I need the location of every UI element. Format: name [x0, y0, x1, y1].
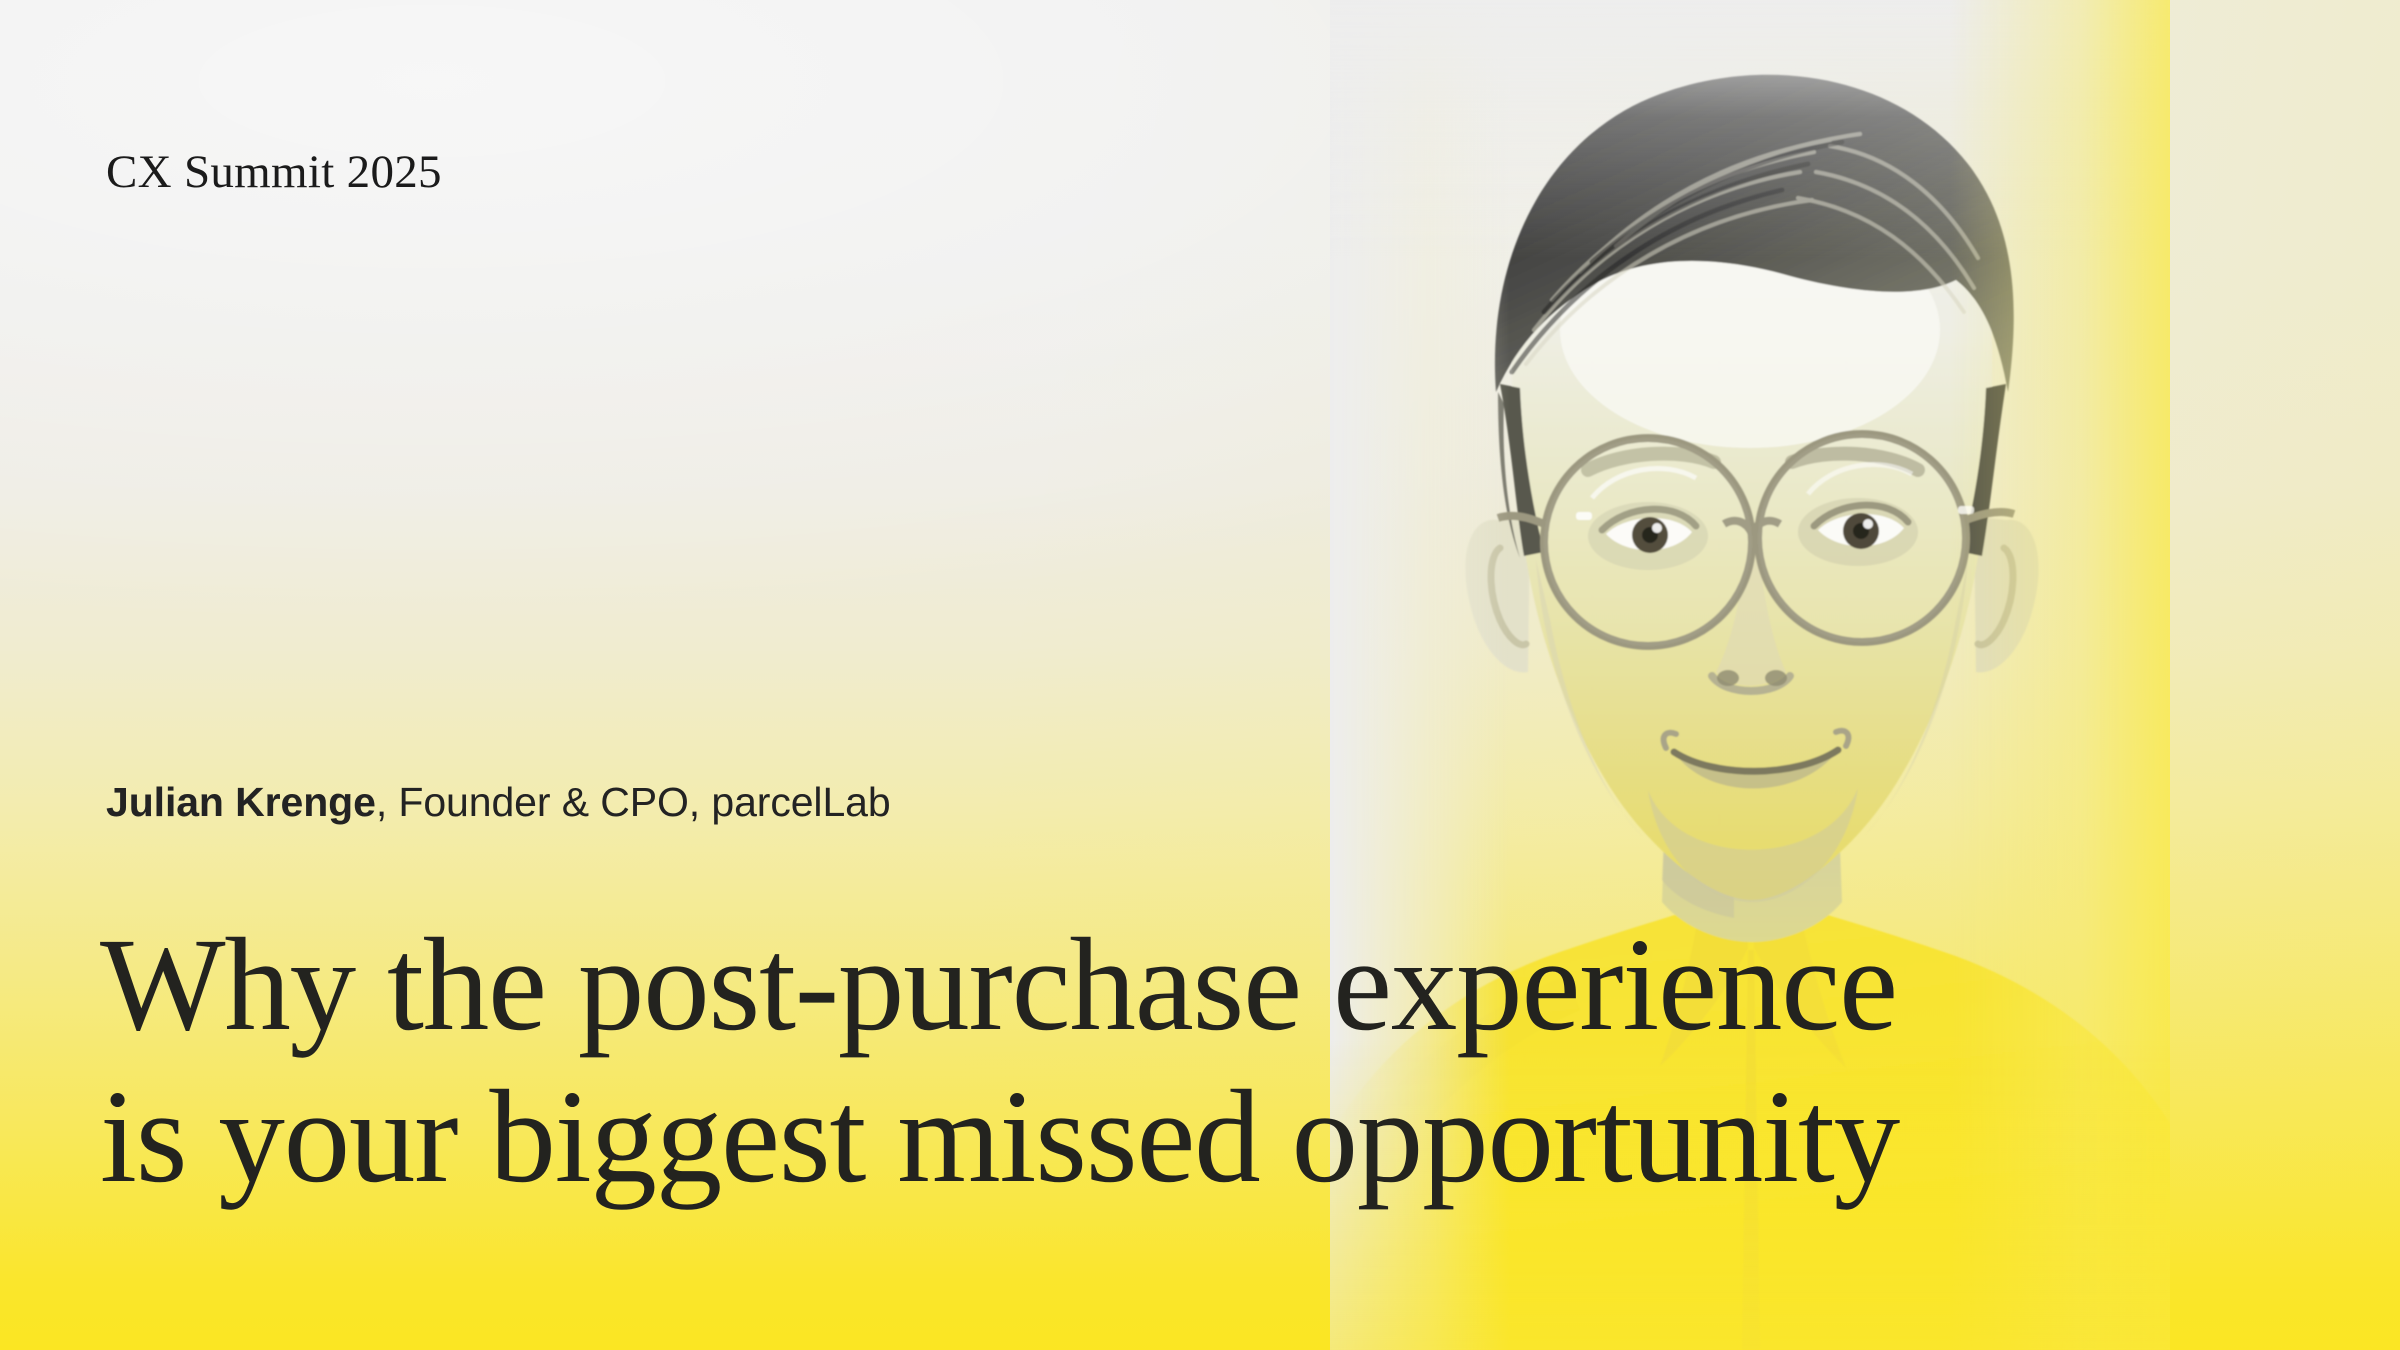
event-eyebrow: CX Summit 2025 — [106, 148, 442, 197]
eyeglasses — [1498, 434, 2014, 646]
presentation-slide: CX Summit 2025 Julian Krenge, Founder & … — [0, 0, 2400, 1350]
slide-headline: Why the post-purchase experience is your… — [100, 908, 2280, 1212]
hair — [1495, 75, 2014, 558]
head — [1465, 75, 2038, 902]
headline-line-2: is your biggest missed opportunity — [100, 1060, 2280, 1212]
eyeglasses-highlight — [1544, 434, 1974, 646]
speaker-byline: Julian Krenge, Founder & CPO, parcelLab — [106, 780, 891, 825]
headline-line-1: Why the post-purchase experience — [100, 908, 2280, 1060]
speaker-name: Julian Krenge — [106, 779, 376, 825]
speaker-role: , Founder & CPO, parcelLab — [376, 779, 891, 825]
portrait-feather-top — [1330, 0, 2170, 260]
